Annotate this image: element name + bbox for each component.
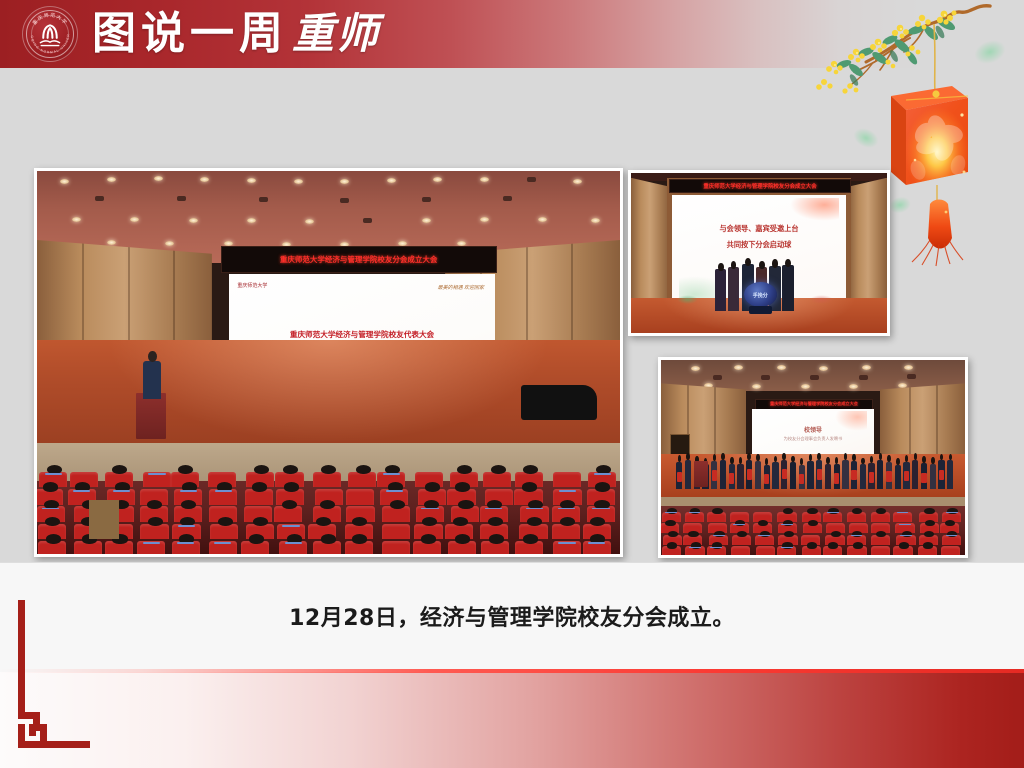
screen-br-line1: 校领导 [752,425,874,434]
university-seal-icon: 重庆师范大学 CHONGQING NORMAL UNIVERSITY [22,6,78,62]
masthead-title: 图说一周 重师 [92,12,380,56]
bottom-gradient-band [0,672,1024,768]
bottom-accent-line [0,669,1024,673]
led-banner: 重庆师范大学经济与管理学院校友分会成立大会 [221,246,497,273]
masthead-title-main: 图说一周 [92,12,288,56]
photo-opening-ceremony-wide[interactable]: 重庆师范大学经济与管理学院校友分会成立大会 重庆师范大学 最美的相遇 欢迎回家 … [34,168,623,557]
caption-divider [0,562,1024,563]
photo-group-certificate-ceremony[interactable]: 重庆师范大学经济与管理学院校友分会成立大会 校领导 为校友分会理事会负责人发聘书 [658,357,968,558]
photo-launch-ball-ceremony[interactable]: 重庆师范大学经济与管理学院校友分会成立大会 与会领导、嘉宾受邀上台 共同按下分会… [628,170,890,336]
masthead-title-script: 重师 [292,13,380,55]
screen-logo-text: 重庆师范大学 [237,282,267,289]
screen-slogan-text: 最美的相遇 欢迎回家 [438,284,484,291]
page-header: 重庆师范大学 CHONGQING NORMAL UNIVERSITY [0,0,1024,68]
slide-root: 重庆师范大学 CHONGQING NORMAL UNIVERSITY [0,0,1024,768]
screen-tr-line1: 与会领导、嘉宾受邀上台 [672,224,846,234]
caption-text: 12月28日，经济与管理学院校友分会成立。 [0,600,1024,632]
launch-ball: 手挽分 [744,282,777,308]
screen-line1: 重庆师范大学经济与管理学院校友代表大会 [229,329,494,340]
corner-ornament-icon [18,600,118,748]
led-banner-tr: 重庆师范大学经济与管理学院校友分会成立大会 [669,179,850,194]
launch-ball-text: 手挽分 [748,292,773,299]
svg-text:重庆师范大学: 重庆师范大学 [31,11,69,26]
screen-tr-line2: 共同按下分会启动球 [672,240,846,250]
screen-br-line2: 为校友分会理事会负责人发聘书 [752,436,874,442]
